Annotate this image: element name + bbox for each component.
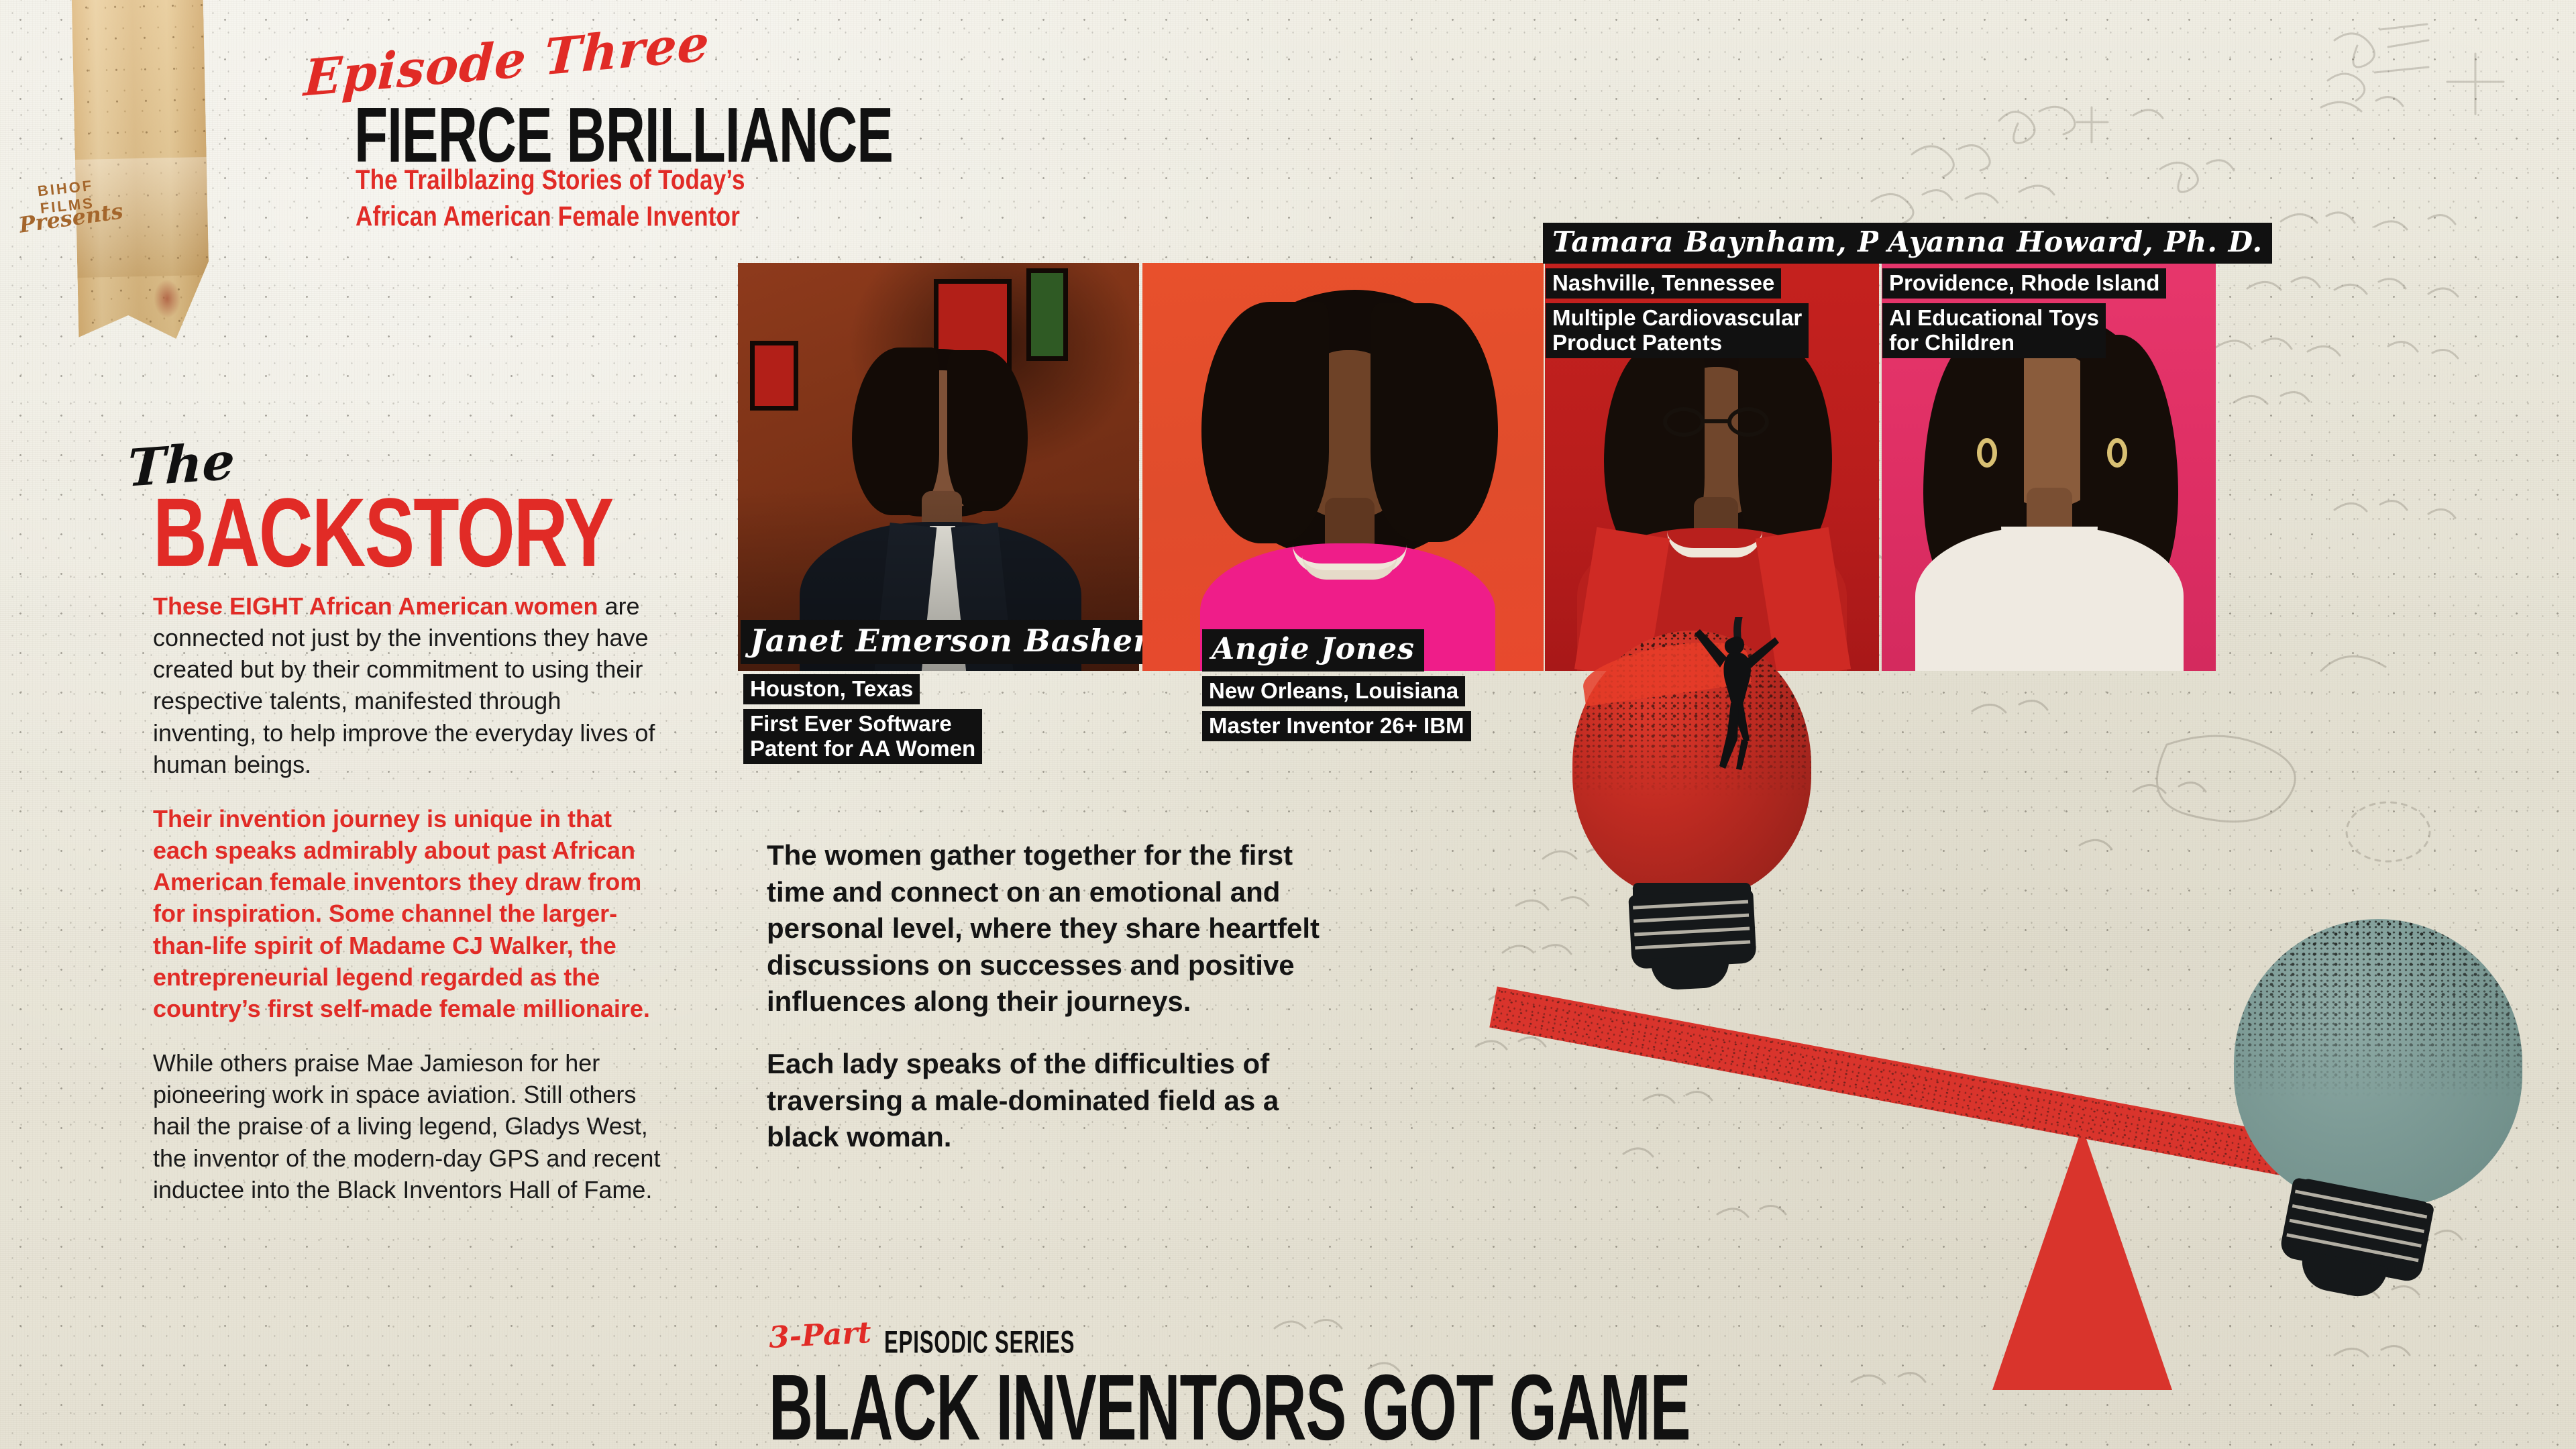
backstory-paragraph-3: While others praise Mae Jamieson for her…: [153, 1047, 663, 1205]
inventor-photo-janet-emerson-bashen[interactable]: [738, 263, 1139, 671]
inventor-photo-angie-jones[interactable]: [1142, 263, 1544, 671]
synopsis-paragraph-2: Each lady speaks of the difficulties of …: [767, 1046, 1344, 1156]
eyeglasses-icon: [1663, 407, 1769, 437]
episode-subtitle-line-2: African American Female Inventor: [356, 199, 745, 235]
part-count-label: 3-Part: [768, 1316, 872, 1355]
backstory-paragraph-2: Their invention journey is unique in tha…: [153, 803, 663, 1024]
earring-left: [1977, 438, 1997, 468]
inventor-credit-1: First Ever Software Patent for AA Women: [743, 709, 982, 764]
inventor-location-3: Nashville, Tennessee: [1546, 268, 1781, 299]
synopsis-body: The women gather together for the first …: [767, 837, 1344, 1181]
red-bulb-contact-tip: [1651, 955, 1730, 991]
seesaw-lightbulb-illustration: [1462, 657, 2576, 1449]
synopsis-paragraph-1: The women gather together for the first …: [767, 837, 1344, 1020]
inventor-location-2: New Orleans, Louisiana: [1202, 676, 1465, 706]
earring-right: [2107, 438, 2127, 468]
inventor-credit-2: Master Inventor 26+ IBM: [1202, 711, 1471, 741]
fulcrum-triangle: [1992, 1127, 2172, 1390]
series-title: BLACK INVENTORS GOT GAME: [769, 1354, 1690, 1449]
episode-subtitle-line-1: The Trailblazing Stories of Today’s: [356, 162, 745, 199]
kraft-tape-logo-strip: [72, 0, 211, 341]
backstory-body: These EIGHT African American women are c…: [153, 590, 663, 1228]
tape-stain: [153, 279, 180, 319]
inventor-name-1: Janet Emerson Bashen: [741, 620, 1166, 664]
woman-silhouette-icon: [1677, 617, 1791, 771]
backstory-paragraph-1: These EIGHT African American women are c…: [153, 590, 663, 780]
backstory-paragraph-1-lead: These EIGHT African American women: [153, 592, 598, 620]
backstory-heading: BACKSTORY: [153, 476, 612, 589]
episode-subtitle: The Trailblazing Stories of Today’s Afri…: [356, 162, 745, 234]
backstory-paragraph-1-rest: are connected not just by the inventions…: [153, 592, 655, 778]
inventor-location-4: Providence, Rhode Island: [1882, 268, 2166, 299]
inventor-name-2: Angie Jones: [1202, 629, 1424, 672]
inventor-name-4: Ayanna Howard, Ph. D.: [1878, 223, 2272, 264]
teal-bulb-glass: [2234, 919, 2522, 1207]
inventor-location-1: Houston, Texas: [743, 674, 920, 704]
poster-canvas: BIHOF FILMS Presents Episode Three FIERC…: [0, 0, 2576, 1449]
teal-lightbulb: [2220, 919, 2542, 1281]
inventor-credit-3: Multiple Cardiovascular Product Patents: [1546, 303, 1809, 358]
inventor-credit-4: AI Educational Toys for Children: [1882, 303, 2106, 358]
portrait-silhouette-2: [1142, 263, 1544, 671]
